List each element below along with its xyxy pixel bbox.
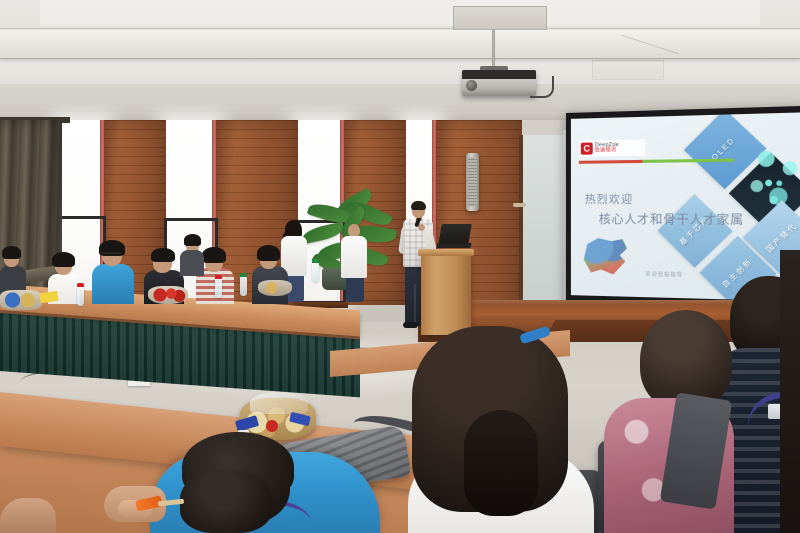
conference-room-photo: OLED 基于芯片 自主创新 国产替代 C DeepZoe 信迪视讯 — [0, 0, 800, 533]
projector-top-bracket — [462, 70, 536, 79]
logo-chinese-name: 信迪视讯 — [595, 148, 619, 153]
logo-mark-icon: C — [581, 142, 593, 154]
bottle-cap — [240, 273, 247, 277]
child-foreground-head — [180, 470, 272, 533]
snack-tray — [0, 290, 42, 310]
presenter-hair — [411, 201, 426, 210]
soda-bottle — [215, 278, 222, 298]
slide-headline-line1: 热烈欢迎 — [585, 190, 752, 207]
ceiling — [0, 0, 800, 120]
glass-door-panel[interactable] — [519, 135, 567, 320]
fruit-bowl-cherries — [148, 286, 188, 304]
water-bottle — [77, 286, 84, 306]
bottle-cap — [215, 275, 222, 279]
adult-blue-shirt — [92, 264, 134, 304]
slide-headline-line2: 核心人才和骨干人才家属 — [599, 210, 752, 228]
slide-map-graphic — [583, 237, 629, 276]
bottle-cap — [312, 259, 319, 263]
fruit-bowl-oranges — [258, 280, 292, 296]
projector-lens-icon — [466, 80, 477, 91]
laptop-keyboard[interactable] — [436, 243, 471, 248]
presenter-shoe — [403, 322, 418, 328]
wooden-podium — [421, 253, 471, 335]
water-bottle — [240, 276, 247, 296]
standing-woman-white-top — [341, 236, 367, 278]
snack-ball — [266, 420, 278, 432]
company-logo: C DeepZoe 信迪视讯 — [579, 139, 646, 156]
person-edge-crop — [780, 250, 800, 533]
person-edge-crop — [0, 498, 56, 533]
slide-surface: OLED 基于芯片 自主创新 国产替代 C DeepZoe 信迪视讯 — [571, 112, 800, 301]
door-handle-icon[interactable] — [513, 203, 526, 207]
person-legs — [346, 274, 364, 302]
bottle-cap — [77, 283, 84, 287]
projector-cable — [530, 76, 554, 98]
presenter-laptop[interactable] — [438, 224, 472, 245]
presenter-hand — [418, 224, 425, 231]
glasses-icon — [101, 252, 121, 258]
speaker-grille-icon — [468, 157, 477, 207]
basket-cellophane — [250, 392, 308, 414]
podium-top-surface — [418, 249, 474, 256]
presenter-leg-split — [414, 284, 416, 326]
projector-mount-pole — [492, 30, 495, 70]
woman-hair-strand — [464, 410, 538, 516]
air-vent-icon — [453, 6, 547, 30]
slide-footer-text: 欢迎莅临指导 — [645, 271, 683, 279]
water-bottle — [312, 262, 319, 282]
slide-headline: 热烈欢迎 核心人才和骨干人才家属 — [585, 190, 752, 228]
